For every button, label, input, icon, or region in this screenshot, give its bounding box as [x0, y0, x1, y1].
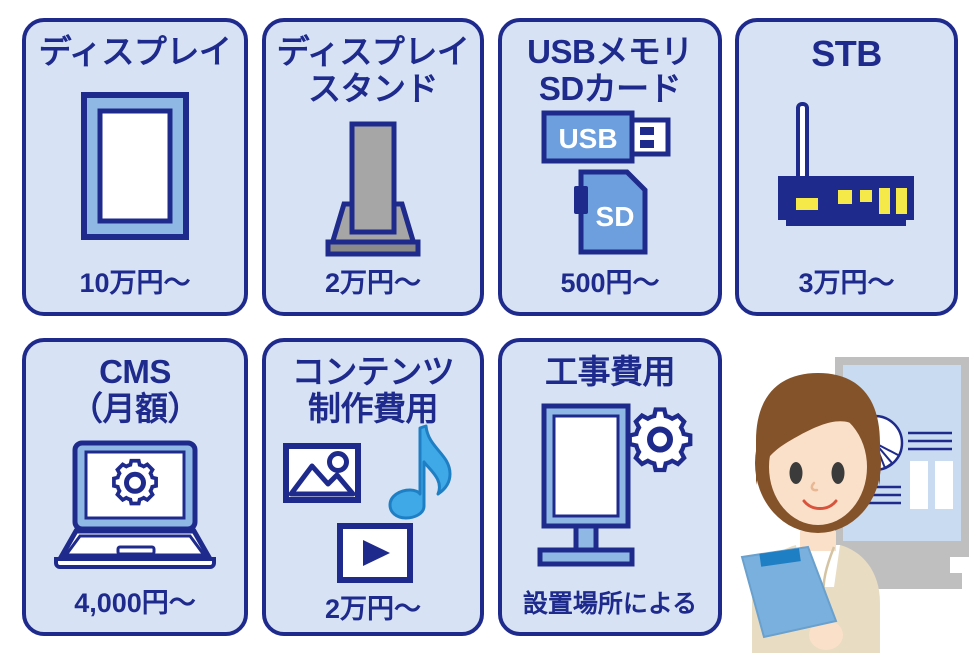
- router-icon: [739, 74, 954, 261]
- card-display-title: ディスプレイ: [39, 34, 232, 71]
- card-content-production-price: 2万円〜: [325, 587, 421, 626]
- display-icon: [26, 71, 244, 261]
- eye-right: [832, 462, 845, 484]
- card-display-stand: ディスプレイ スタンド 2万円〜: [262, 18, 484, 316]
- card-content-production-title: コンテンツ 制作費用: [292, 354, 455, 428]
- card-construction: 工事費用 設置場所による: [498, 338, 722, 636]
- image-icon: [286, 446, 358, 500]
- card-stb: STB 3万円〜: [735, 18, 958, 316]
- usb-label: USB: [558, 123, 617, 154]
- card-display-price: 10万円〜: [79, 261, 190, 300]
- gear-icon: [114, 461, 156, 504]
- card-cms-price: 4,000円〜: [74, 581, 196, 620]
- music-note-icon: [390, 426, 450, 518]
- card-display: ディスプレイ 10万円〜: [22, 18, 248, 316]
- woman-with-presentation-board-illustration: [730, 335, 980, 653]
- laptop-gear-icon: [26, 428, 244, 581]
- display-stand-icon: [266, 108, 480, 261]
- signage-gear-icon: [502, 391, 718, 584]
- card-usb-sd-title: USBメモリ SDカード: [527, 34, 693, 108]
- gear-icon: [630, 409, 690, 469]
- card-construction-price: 設置場所による: [523, 584, 697, 620]
- card-stb-title: STB: [811, 34, 882, 74]
- card-display-stand-title: ディスプレイ スタンド: [277, 34, 470, 108]
- usb-stick-icon: USB: [530, 110, 690, 164]
- usb-sd-icon: USB SD: [502, 108, 718, 261]
- signage-icon: [540, 406, 632, 564]
- sd-label: SD: [596, 201, 635, 232]
- sd-card-icon: SD: [565, 168, 655, 258]
- infographic-canvas: ディスプレイ 10万円〜 ディスプレイ スタンド 2万円〜 USBメモリ SDカ…: [0, 0, 980, 653]
- card-display-stand-price: 2万円〜: [325, 261, 421, 300]
- card-cms-title: CMS （月額）: [70, 354, 200, 428]
- card-content-production: コンテンツ 制作費用 2万円〜: [262, 338, 484, 636]
- eye-left: [790, 462, 803, 484]
- card-stb-price: 3万円〜: [798, 261, 894, 300]
- card-usb-sd-price: 500円〜: [560, 261, 659, 300]
- card-cms: CMS （月額） 4,000円〜: [22, 338, 248, 636]
- card-usb-sd: USBメモリ SDカード USB SD 500円〜: [498, 18, 722, 316]
- card-construction-title: 工事費用: [545, 354, 675, 391]
- media-icons: [266, 428, 480, 587]
- video-play-icon: [340, 526, 410, 580]
